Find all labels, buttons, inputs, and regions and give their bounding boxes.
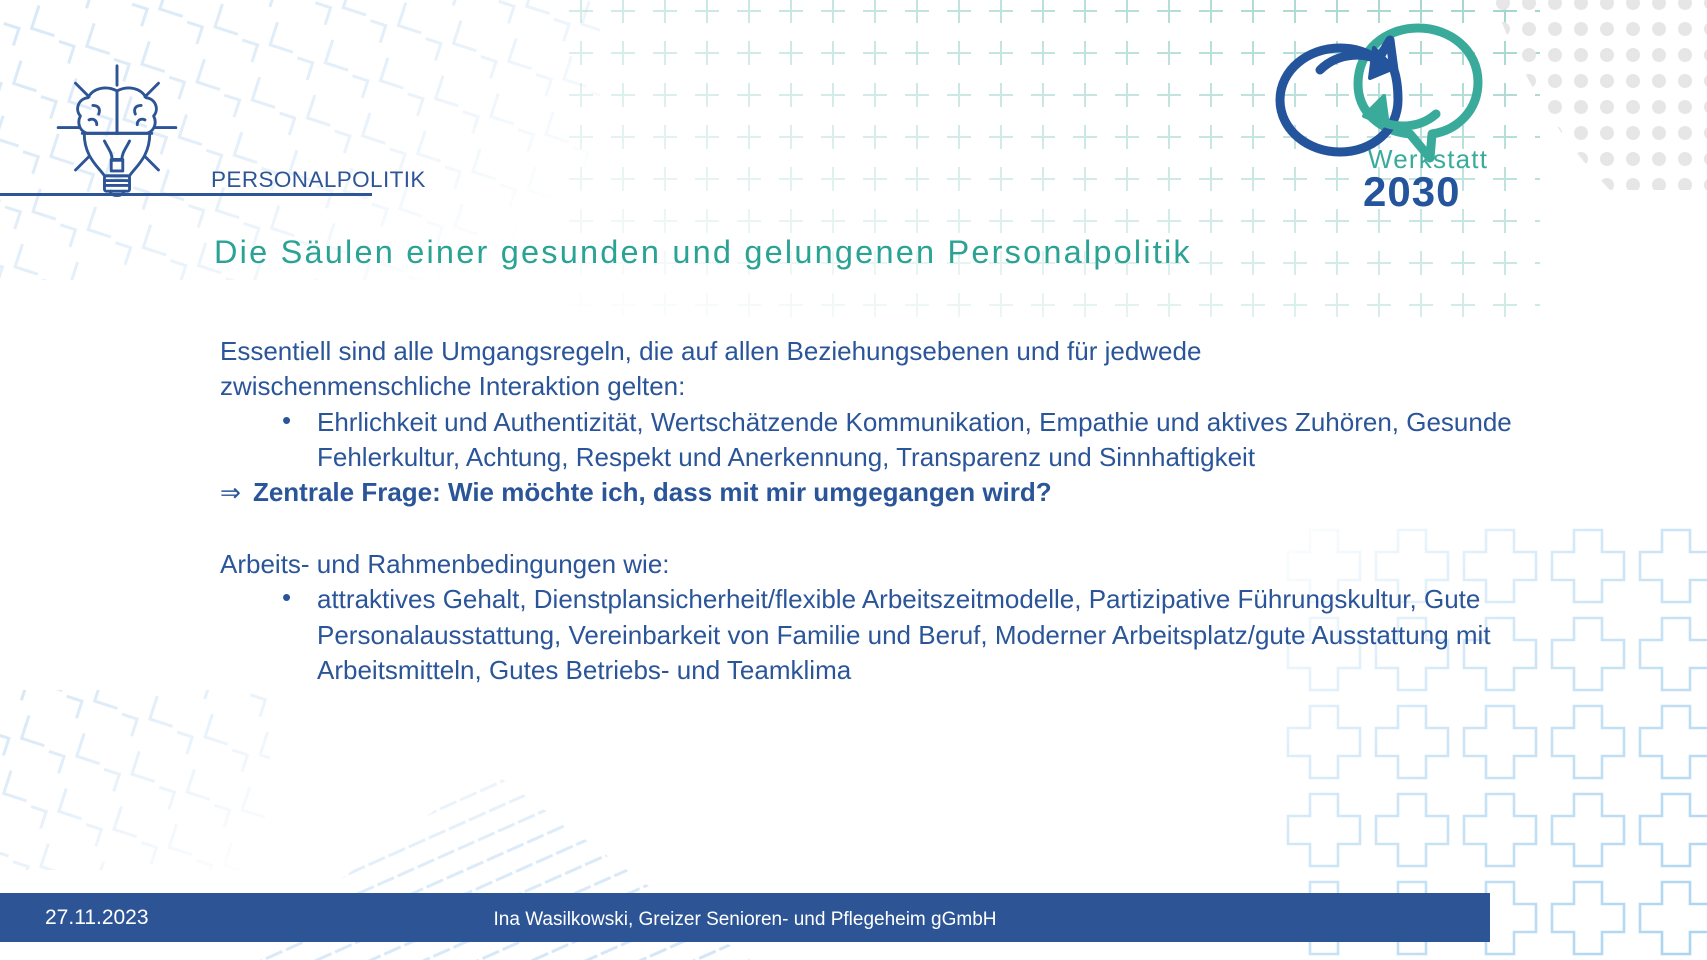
slide-body: Essentiell sind alle Umgangsregeln, die … bbox=[220, 334, 1510, 688]
bullet-list-umgangsregeln: • Ehrlichkeit und Authentizität, Wertsch… bbox=[220, 405, 1510, 476]
brain-lightbulb-icon bbox=[52, 62, 182, 197]
list-item: • attraktives Gehalt, Dienstplansicherhe… bbox=[220, 582, 1607, 688]
intro-paragraph: Essentiell sind alle Umgangsregeln, die … bbox=[220, 334, 1400, 405]
bracket-pattern-bottom-left bbox=[0, 690, 270, 870]
double-arrow-right-icon: ⇒ bbox=[220, 476, 241, 510]
logo-year-text: 2030 bbox=[1363, 168, 1460, 216]
section-spacer bbox=[220, 511, 1510, 547]
dot-texture-top-right bbox=[1490, 0, 1707, 190]
bullet-list-rahmenbedingungen: • attraktives Gehalt, Dienstplansicherhe… bbox=[220, 582, 1510, 688]
list-item-label: attraktives Gehalt, Dienstplansicherheit… bbox=[317, 584, 1491, 685]
section-2-lead: Arbeits- und Rahmenbedingungen wie: bbox=[220, 547, 1510, 582]
bullet-dot-icon: • bbox=[282, 580, 291, 615]
header-divider-rule bbox=[0, 193, 372, 196]
slide-kicker: PERSONALPOLITIK bbox=[211, 167, 426, 193]
list-item: • Ehrlichkeit und Authentizität, Wertsch… bbox=[220, 405, 1607, 476]
bullet-dot-icon: • bbox=[282, 403, 291, 438]
list-item-label: Ehrlichkeit und Authentizität, Wertschät… bbox=[317, 407, 1512, 472]
footer-attribution: Ina Wasilkowski, Greizer Senioren- und P… bbox=[0, 909, 1490, 931]
key-question-line: ⇒ Zentrale Frage: Wie möchte ich, dass m… bbox=[220, 475, 1510, 510]
page-title: Die Säulen einer gesunden und gelungenen… bbox=[214, 234, 1464, 271]
key-question-text: Zentrale Frage: Wie möchte ich, dass mit… bbox=[253, 475, 1052, 510]
slide-canvas: PERSONALPOLITIK Werkstatt 2030 Die Säule… bbox=[0, 0, 1707, 960]
